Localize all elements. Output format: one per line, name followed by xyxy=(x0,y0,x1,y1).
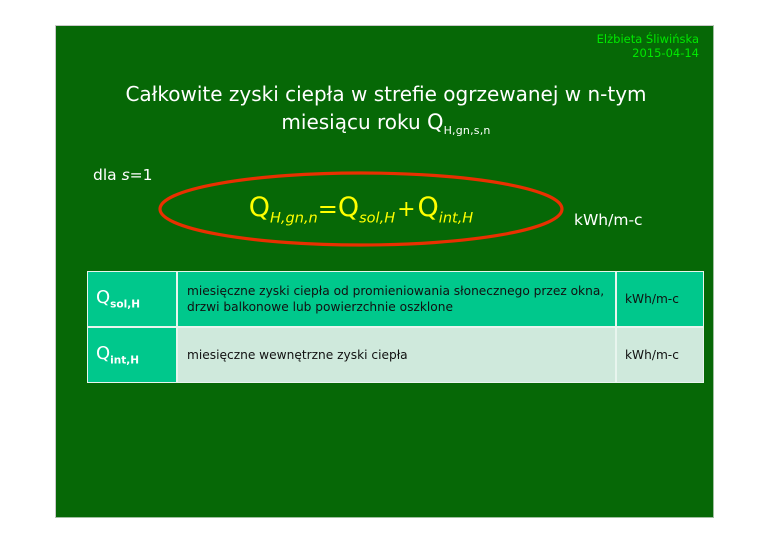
title-symbol-q: Q xyxy=(427,110,444,134)
formula-q3-subscript: int,H xyxy=(439,210,473,226)
formula-highlight-group: QH,gn,n=Qsol,H+Qint,H xyxy=(156,169,566,249)
formula-plus: + xyxy=(395,197,417,222)
formula-term-qinth: Qint,H xyxy=(418,192,474,226)
row-description-cell: miesięczne wewnętrzne zyski ciepła xyxy=(177,327,616,383)
row-symbol-cell: Qint,H xyxy=(87,327,177,383)
author-block: Elżbieta Śliwińska 2015-04-14 xyxy=(597,32,699,60)
formula-unit-label: kWh/m-c xyxy=(574,211,643,229)
formula-term-qsolh: Qsol,H xyxy=(338,192,395,226)
main-formula: QH,gn,n=Qsol,H+Qint,H xyxy=(156,169,566,249)
formula-equals: = xyxy=(318,195,338,223)
formula-q1-subscript: H,gn,n xyxy=(270,210,318,226)
formula-term-qhgnn: QH,gn,n xyxy=(249,192,318,226)
title-line-1: Całkowite zyski ciepła w strefie ogrzewa… xyxy=(125,82,646,106)
formula-q1-symbol: Q xyxy=(249,192,270,223)
row-description-cell: miesięczne zyski ciepła od promieniowani… xyxy=(177,271,616,327)
row-1-symbol: Q xyxy=(96,343,110,364)
row-0-symbol: Q xyxy=(96,287,110,308)
row-0-subscript: sol,H xyxy=(110,299,140,311)
formula-q2-subscript: sol,H xyxy=(359,210,395,226)
row-symbol-cell: Qsol,H xyxy=(87,271,177,327)
formula-q2-symbol: Q xyxy=(338,192,359,223)
page-root: Elżbieta Śliwińska 2015-04-14 Całkowite … xyxy=(0,0,768,543)
presentation-date: 2015-04-14 xyxy=(597,46,699,60)
condition-suffix: =1 xyxy=(130,166,153,184)
formula-q3-symbol: Q xyxy=(418,192,439,223)
author-name: Elżbieta Śliwińska xyxy=(597,32,699,46)
row-unit-cell: kWh/m-c xyxy=(616,327,704,383)
title-symbol-subscript: H,gn,s,n xyxy=(444,124,491,137)
table-row: Qint,H miesięczne wewnętrzne zyski ciepł… xyxy=(87,327,704,383)
condition-prefix: dla xyxy=(93,166,122,184)
row-unit-cell: kWh/m-c xyxy=(616,271,704,327)
page-title: Całkowite zyski ciepła w strefie ogrzewa… xyxy=(86,80,686,138)
presentation-slide: Elżbieta Śliwińska 2015-04-14 Całkowite … xyxy=(55,25,714,518)
title-line-2-prefix: miesiącu roku xyxy=(281,110,427,134)
condition-label: dla s=1 xyxy=(93,166,153,184)
symbol-legend-table: Qsol,H miesięczne zyski ciepła od promie… xyxy=(87,271,704,383)
table-row: Qsol,H miesięczne zyski ciepła od promie… xyxy=(87,271,704,327)
condition-variable: s xyxy=(122,166,130,184)
row-1-subscript: int,H xyxy=(110,355,139,367)
